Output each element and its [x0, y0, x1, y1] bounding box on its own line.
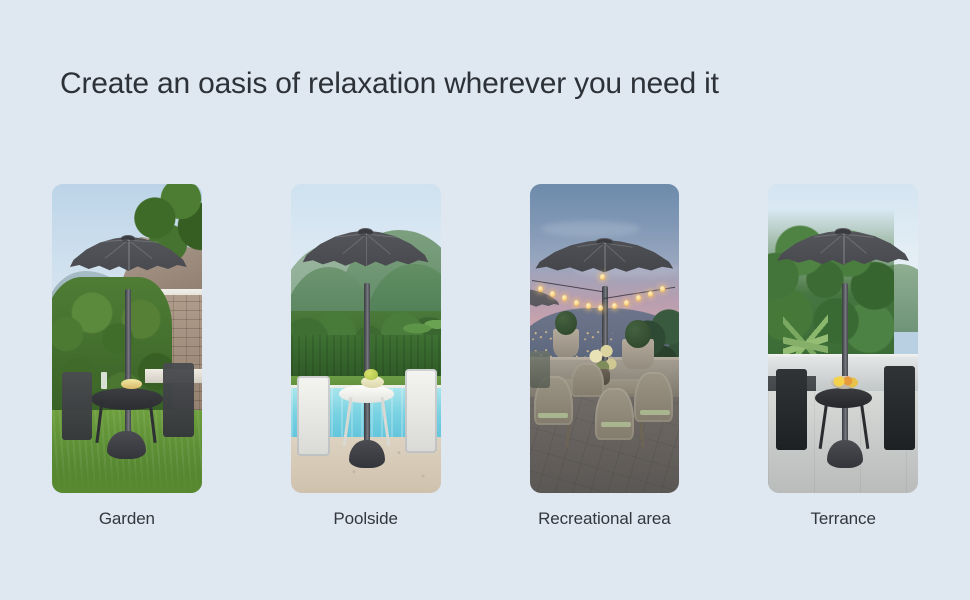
gallery-card-recreational[interactable]: Recreational area: [530, 184, 680, 529]
background-chair: [530, 351, 551, 388]
dining-chair-back-left: [571, 363, 604, 397]
umbrella-pole: [842, 283, 848, 444]
string-light-bulb: [636, 295, 641, 301]
umbrella-pole: [364, 283, 370, 444]
chair-cushion: [601, 422, 631, 427]
promo-banner: Create an oasis of relaxation wherever y…: [0, 0, 970, 600]
photo-terrance: [768, 184, 918, 493]
lawn-foreground: [52, 459, 202, 493]
umbrella-pole: [125, 289, 131, 437]
topiary-right: [625, 320, 650, 348]
gallery-card-garden[interactable]: Garden: [52, 184, 202, 529]
string-light-bulb: [624, 300, 629, 306]
caption-terrance: Terrance: [768, 509, 918, 529]
patio-chair-right: [163, 363, 194, 437]
umbrella-base: [827, 440, 863, 468]
caption-poolside: Poolside: [291, 509, 441, 529]
patio-chair-right: [405, 369, 438, 452]
caption-recreational-area: Recreational area: [530, 509, 680, 529]
string-light-bulb: [600, 274, 605, 280]
caption-garden: Garden: [52, 509, 202, 529]
umbrella-rib: [843, 234, 844, 264]
umbrella-rib: [128, 240, 129, 270]
string-light-bulb: [660, 286, 665, 292]
scene-gallery: Garden: [12, 168, 958, 545]
photo-recreational: [530, 184, 680, 493]
string-light-bulb: [648, 291, 653, 297]
patio-chair-left: [776, 369, 807, 449]
umbrella-rib: [604, 243, 605, 271]
gallery-card-poolside[interactable]: Poolside: [291, 184, 441, 529]
chair-cushion: [640, 410, 670, 415]
patio-chair-left: [297, 376, 330, 456]
patio-chair-left: [62, 372, 92, 440]
umbrella-base: [349, 440, 385, 468]
chair-cushion: [538, 413, 568, 418]
photo-poolside: [291, 184, 441, 493]
dining-chair-front: [595, 388, 634, 441]
grapes: [364, 369, 377, 380]
gallery-card-terrance[interactable]: Terrance: [768, 184, 918, 529]
page-title: Create an oasis of relaxation wherever y…: [60, 63, 719, 105]
patio-chair-right: [884, 366, 915, 449]
drinking-glass: [101, 372, 107, 389]
cloud: [541, 221, 640, 236]
string-light-bulb: [612, 303, 617, 309]
umbrella-rib: [366, 234, 367, 265]
photo-garden: [52, 184, 202, 493]
